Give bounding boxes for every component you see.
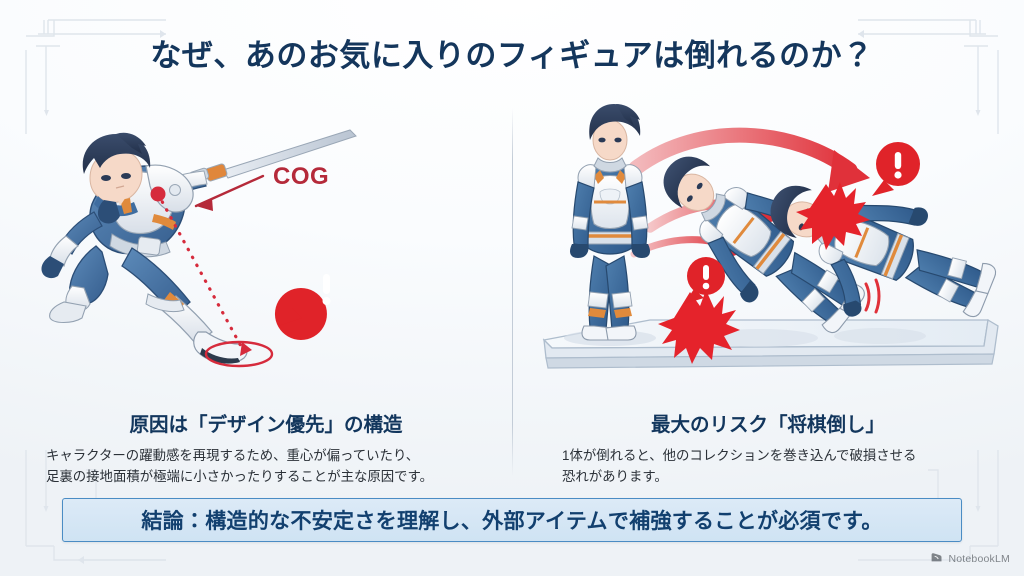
- slide-title-bar: なぜ、あのお気に入りのフィギュアは倒れるのか？: [0, 30, 1024, 75]
- fall-arrow-large: [636, 135, 850, 170]
- notebook-spiral-icon: [930, 550, 943, 568]
- cog-label: COG: [273, 163, 329, 190]
- notebooklm-label: NotebookLM: [948, 553, 1010, 565]
- motion-streaks: [866, 280, 879, 312]
- caption-right-body-line2: 恐れがあります。: [562, 467, 988, 488]
- illustration-action-pose-figure: COG: [20, 96, 512, 388]
- illustration-domino-fall: [532, 96, 1004, 388]
- caption-right-body-line1: 1体が倒れると、他のコレクションを巻き込んで破損させる: [562, 446, 988, 467]
- caption-right: 最大のリスク「将棋倒し」 1体が倒れると、他のコレクションを巻き込んで破損させる…: [532, 408, 1004, 488]
- slide-canvas: なぜ、あのお気に入りのフィギュアは倒れるのか？: [0, 0, 1024, 576]
- caption-right-body: 1体が倒れると、他のコレクションを巻き込んで破損させる 恐れがあります。: [548, 446, 988, 488]
- panels-container: COG 原因は「デザイン優先」の構造 キャラクターの躍動感を再現するため、重心が…: [0, 96, 1024, 488]
- alert-bubble-upper-right: [872, 142, 920, 196]
- caption-left-heading: 原因は「デザイン優先」の構造: [36, 408, 496, 437]
- panel-right: 最大のリスク「将棋倒し」 1体が倒れると、他のコレクションを巻き込んで破損させる…: [532, 96, 1004, 488]
- alert-bubble-left: [275, 274, 331, 340]
- conclusion-banner-text: 結論：構造的な不安定さを理解し、外部アイテムで補強することが必須です。: [141, 505, 882, 535]
- notebooklm-watermark: NotebookLM: [930, 550, 1010, 568]
- caption-left-body-line2: 足裏の接地面積が極端に小さかったりすることが主な原因です。: [46, 467, 496, 488]
- caption-right-heading: 最大のリスク「将棋倒し」: [548, 408, 988, 437]
- panel-left: COG 原因は「デザイン優先」の構造 キャラクターの躍動感を再現するため、重心が…: [20, 96, 512, 488]
- figure-standing: [570, 104, 650, 340]
- page-title: なぜ、あのお気に入りのフィギュアは倒れるのか？: [150, 30, 873, 75]
- caption-left-body-line1: キャラクターの躍動感を再現するため、重心が偏っていたり、: [46, 446, 496, 467]
- caption-left: 原因は「デザイン優先」の構造 キャラクターの躍動感を再現するため、重心が偏ってい…: [20, 408, 512, 488]
- caption-left-body: キャラクターの躍動感を再現するため、重心が偏っていたり、 足裏の接地面積が極端に…: [36, 446, 496, 488]
- cog-point: [151, 187, 166, 202]
- conclusion-banner: 結論：構造的な不安定さを理解し、外部アイテムで補強することが必須です。: [62, 498, 962, 542]
